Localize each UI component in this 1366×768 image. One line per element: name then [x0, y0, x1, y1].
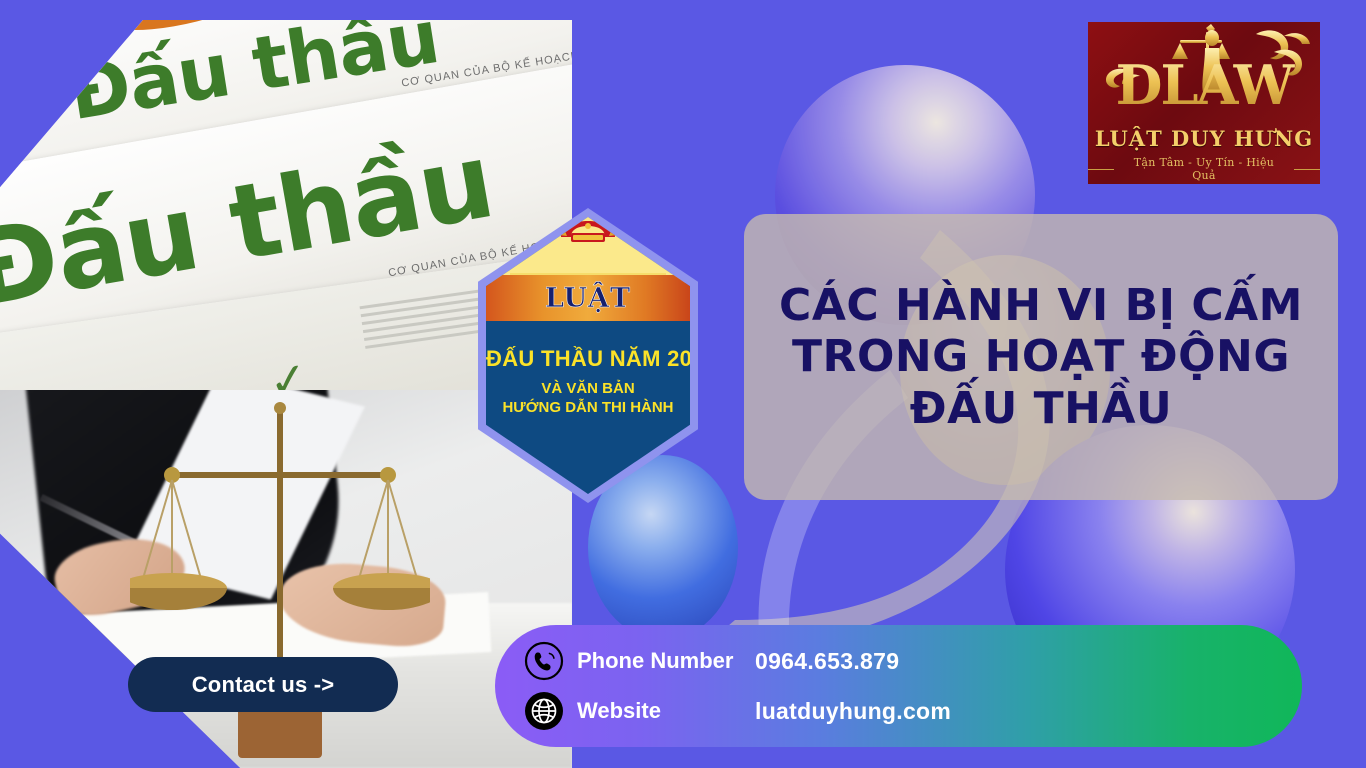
- main-title-panel: CÁC HÀNH VI BỊ CẤM TRONG HOẠT ĐỘNG ĐẤU T…: [744, 214, 1338, 500]
- website-value[interactable]: luatduyhung.com: [755, 698, 951, 725]
- logo-tagline-wrap: Tận Tâm - Uy Tín - Hiệu Quả: [1088, 156, 1320, 182]
- title-line-1: CÁC HÀNH VI BỊ CẤM: [779, 280, 1303, 331]
- title-line-3: ĐẤU THẦU: [910, 383, 1173, 434]
- badge-line-3: HƯỚNG DẪN THI HÀNH: [486, 399, 690, 416]
- globe-icon: [523, 690, 565, 732]
- company-logo[interactable]: DLAW LUẬT DUY HƯNG Tận Tâm - Uy Tín - Hi…: [1088, 22, 1320, 184]
- phone-value[interactable]: 0964.653.879: [755, 648, 899, 675]
- phone-icon: [523, 640, 565, 682]
- poster-canvas: Đấu thầu CƠ QUAN CỦA BỘ KẾ HOẠCH Đấu thầ…: [0, 0, 1366, 768]
- contact-info-bar: Phone Number 0964.653.879 Website luatdu…: [495, 625, 1302, 747]
- dlaw-scales-of-justice-icon: DLAW: [1088, 22, 1320, 130]
- badge-ribbon-label: LUẬT: [545, 283, 631, 314]
- contact-us-button[interactable]: Contact us ->: [128, 657, 398, 712]
- website-label: Website: [565, 698, 755, 724]
- badge-ribbon: LUẬT: [486, 275, 690, 321]
- badge-line-1: ĐẤU THẦU NĂM 2023: [486, 347, 690, 371]
- contact-us-label: Contact us ->: [192, 672, 335, 698]
- badge-line-2: VÀ VĂN BẢN: [486, 380, 690, 397]
- svg-text:DLAW: DLAW: [1116, 53, 1296, 117]
- logo-tagline: Tận Tâm - Uy Tín - Hiệu Quả: [1121, 156, 1287, 182]
- law-book-badge: LUẬT ĐẤU THẦU NĂM 2023 VÀ VĂN BẢN HƯỚNG …: [478, 208, 698, 503]
- phone-label: Phone Number: [565, 648, 755, 674]
- contact-row-phone: Phone Number 0964.653.879: [523, 636, 1302, 686]
- contact-row-website: Website luatduyhung.com: [523, 686, 1302, 736]
- logo-company-name: LUẬT DUY HƯNG: [1088, 126, 1320, 151]
- title-line-2: TRONG HOẠT ĐỘNG: [792, 331, 1290, 382]
